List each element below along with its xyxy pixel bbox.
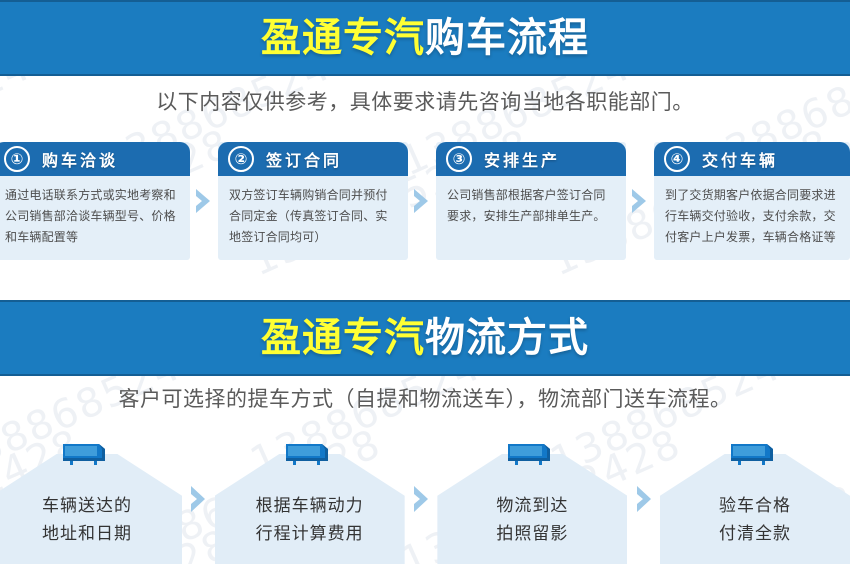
truck-icon	[284, 440, 336, 468]
purchase-banner-accent: 盈通专汽	[261, 15, 425, 61]
chevron-right-icon	[187, 483, 209, 515]
logistics-card-line1-2: 根据车辆动力	[215, 492, 405, 520]
purchase-step-header-2: ② 签订合同	[218, 142, 408, 176]
purchase-step-header-3: ③ 安排生产	[436, 142, 626, 176]
purchase-subtitle: 以下内容仅供参考，具体要求请先咨询当地各职能部门。	[0, 86, 850, 116]
logistics-step-card-1: 车辆送达的 地址和日期	[0, 440, 182, 564]
step-number-badge-2: ②	[228, 146, 254, 172]
logistics-card-line2-3: 拍照留影	[437, 520, 627, 548]
step-body-2: 双方签订车辆购销合同并预付合同定金（传真签订合同、实地签订合同均可）	[218, 176, 408, 248]
chevron-right-icon	[410, 483, 432, 515]
promo-page: 盈通专汽购车流程 以下内容仅供参考，具体要求请先咨询当地各职能部门。 ① 购车洽…	[0, 0, 850, 564]
truck-icon	[729, 440, 781, 468]
logistics-step-card-2: 根据车辆动力 行程计算费用	[215, 440, 405, 564]
chevron-right-icon	[633, 483, 655, 515]
logistics-step-card-3: 物流到达 拍照留影	[437, 440, 627, 564]
logistics-banner-accent: 盈通专汽	[261, 315, 425, 361]
chevron-right-icon	[411, 186, 433, 216]
purchase-banner-title: 盈通专汽购车流程	[261, 18, 589, 58]
logistics-card-text-1: 车辆送达的 地址和日期	[0, 492, 182, 548]
logistics-card-line2-4: 付清全款	[660, 520, 850, 548]
purchase-step-arrow-1	[190, 142, 218, 260]
purchase-step-arrow-3	[626, 142, 654, 260]
logistics-step-arrow-1	[182, 440, 215, 564]
purchase-step-card-4: ④ 交付车辆 到了交货期客户依据合同要求进行车辆交付验收，支付余款，交付客户上户…	[654, 142, 850, 260]
step-title-3: 安排生产	[484, 147, 560, 171]
logistics-card-text-2: 根据车辆动力 行程计算费用	[215, 492, 405, 548]
step-number-badge-1: ①	[4, 146, 30, 172]
step-body-3: 公司销售部根据客户签订合同要求，安排生产部排单生产。	[436, 176, 626, 227]
step-number-badge-3: ③	[446, 146, 472, 172]
purchase-step-card-2: ② 签订合同 双方签订车辆购销合同并预付合同定金（传真签订合同、实地签订合同均可…	[218, 142, 408, 260]
logistics-banner-plain: 物流方式	[425, 315, 589, 361]
purchase-banner: 盈通专汽购车流程	[0, 0, 850, 76]
logistics-card-line1-3: 物流到达	[437, 492, 627, 520]
step-body-4: 到了交货期客户依据合同要求进行车辆交付验收，支付余款，交付客户上户发票，车辆合格…	[654, 176, 850, 248]
logistics-card-text-4: 验车合格 付清全款	[660, 492, 850, 548]
logistics-step-card-4: 验车合格 付清全款	[660, 440, 850, 564]
logistics-card-line2-1: 地址和日期	[0, 520, 182, 548]
logistics-card-line1-1: 车辆送达的	[0, 492, 182, 520]
chevron-right-icon	[193, 186, 215, 216]
purchase-step-arrow-2	[408, 142, 436, 260]
logistics-card-line1-4: 验车合格	[660, 492, 850, 520]
purchase-step-header-1: ① 购车洽谈	[0, 142, 190, 176]
logistics-subtitle: 客户可选择的提车方式（自提和物流送车），物流部门送车流程。	[0, 383, 850, 413]
logistics-steps-row: 车辆送达的 地址和日期 根据车辆动力 行程计算费用	[0, 430, 850, 564]
purchase-step-card-1: ① 购车洽谈 通过电话联系方式或实地考察和公司销售部洽谈车辆型号、价格和车辆配置…	[0, 142, 190, 260]
purchase-step-card-3: ③ 安排生产 公司销售部根据客户签订合同要求，安排生产部排单生产。	[436, 142, 626, 260]
purchase-steps-row: ① 购车洽谈 通过电话联系方式或实地考察和公司销售部洽谈车辆型号、价格和车辆配置…	[0, 142, 850, 264]
logistics-card-text-3: 物流到达 拍照留影	[437, 492, 627, 548]
logistics-banner-title: 盈通专汽物流方式	[261, 318, 589, 358]
step-number-badge-4: ④	[664, 146, 690, 172]
step-body-1: 通过电话联系方式或实地考察和公司销售部洽谈车辆型号、价格和车辆配置等	[0, 176, 190, 248]
truck-icon	[506, 440, 558, 468]
logistics-step-arrow-3	[627, 440, 660, 564]
purchase-step-header-4: ④ 交付车辆	[654, 142, 850, 176]
step-title-2: 签订合同	[266, 147, 342, 171]
step-title-1: 购车洽谈	[42, 147, 118, 171]
purchase-banner-plain: 购车流程	[425, 15, 589, 61]
logistics-banner: 盈通专汽物流方式	[0, 300, 850, 376]
logistics-step-arrow-2	[405, 440, 438, 564]
logistics-card-line2-2: 行程计算费用	[215, 520, 405, 548]
truck-icon	[61, 440, 113, 468]
chevron-right-icon	[629, 186, 651, 216]
step-title-4: 交付车辆	[702, 147, 778, 171]
